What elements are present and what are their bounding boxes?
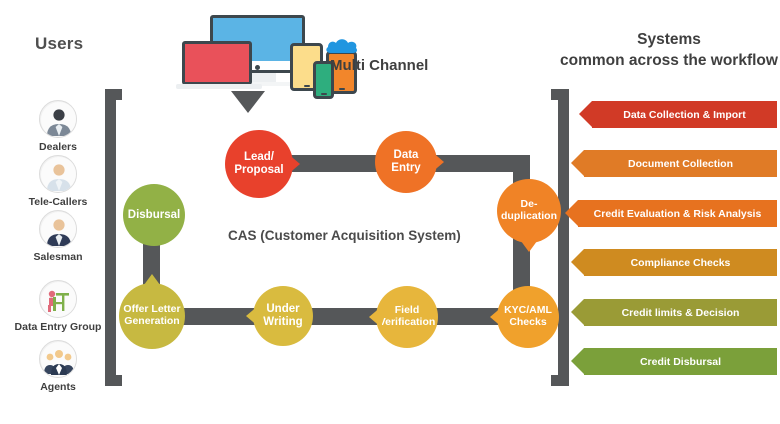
process-node-label: Offer LetterGeneration: [123, 304, 180, 328]
process-node-label-line2: Entry: [391, 162, 420, 175]
laptop-base-icon: [176, 84, 262, 89]
process-node-lead-proposal[interactable]: Lead/Proposal: [225, 130, 293, 198]
system-bar-compliance-checks[interactable]: Compliance Checks: [584, 249, 777, 276]
system-bar-label: Credit Disbursal: [640, 356, 721, 368]
flow-arrow-down-de-duplication: [518, 237, 540, 252]
system-bar-label: Document Collection: [628, 158, 733, 170]
process-node-under-writing[interactable]: UnderWriting: [253, 286, 313, 346]
process-node-label-line2: Verification: [379, 317, 436, 329]
process-node-offer-letter-generation[interactable]: Offer LetterGeneration: [119, 283, 185, 349]
system-bar-arrow-icon: [565, 200, 578, 226]
users-bracket-top: [105, 89, 122, 100]
user-label: Agents: [8, 381, 108, 393]
process-node-label: UnderWriting: [263, 303, 302, 329]
cloud-icon: [325, 37, 359, 54]
process-node-label-line2: Generation: [123, 316, 180, 328]
laptop-icon: [182, 41, 252, 85]
systems-heading: Systems common across the workflow: [560, 30, 778, 72]
user-item-salesman: Salesman: [8, 210, 108, 263]
system-bar-label: Credit Evaluation & Risk Analysis: [594, 208, 762, 220]
process-node-label-line2: Checks: [504, 317, 552, 329]
flow-arrow-up-offer-letter-generation: [141, 274, 163, 289]
user-label: Salesman: [8, 251, 108, 263]
system-bar-arrow-icon: [579, 101, 592, 127]
process-node-label-line2: Writing: [263, 316, 302, 329]
user-label: Tele-Callers: [8, 196, 108, 208]
user-item-agents: Agents: [8, 340, 108, 393]
process-node-kyc-aml-checks[interactable]: KYC/AMLChecks: [497, 286, 559, 348]
data-entry-avatar-icon: [39, 280, 77, 318]
process-node-label: De-duplication: [501, 199, 557, 223]
process-node-label-line1: Lead/: [234, 151, 283, 164]
telecaller-avatar-icon: [39, 155, 77, 193]
system-bar-credit-disbursal[interactable]: Credit Disbursal: [584, 348, 777, 375]
flow-arrow-right-data-entry: [431, 151, 444, 173]
process-node-label-line1: Data: [391, 149, 420, 162]
system-bar-label: Data Collection & Import: [623, 109, 746, 121]
process-node-label-line2: duplication: [501, 211, 557, 223]
user-item-tele-callers: Tele-Callers: [8, 155, 108, 208]
system-bar-document-collection[interactable]: Document Collection: [584, 150, 777, 177]
process-node-label: Lead/Proposal: [234, 151, 283, 177]
user-label: Dealers: [8, 141, 108, 153]
multi-channel-label: Multi Channel: [330, 57, 428, 74]
systems-bracket-vertical: [558, 89, 569, 386]
input-arrow-icon: [231, 91, 265, 113]
process-node-label: FieldVerification: [379, 305, 436, 329]
user-item-dealers: Dealers: [8, 100, 108, 153]
systems-heading-line2: common across the workflow: [560, 52, 778, 69]
salesman-avatar-icon: [39, 210, 77, 248]
system-bar-arrow-icon: [571, 150, 584, 176]
process-node-field-verification[interactable]: FieldVerification: [376, 286, 438, 348]
flow-arrow-left-kyc-aml-checks: [490, 306, 503, 328]
dealer-avatar-icon: [39, 100, 77, 138]
system-bar-label: Compliance Checks: [631, 257, 731, 269]
workflow-diagram: Users Systems common across the workflow: [0, 0, 780, 424]
user-item-data-entry-group: Data Entry Group: [8, 280, 108, 333]
process-node-label: Disbursal: [128, 209, 180, 222]
process-node-label-line1: Disbursal: [128, 209, 180, 222]
flow-arrow-left-field-verification: [369, 306, 382, 328]
system-bar-credit-limits-decision[interactable]: Credit limits & Decision: [584, 299, 777, 326]
system-bar-arrow-icon: [571, 348, 584, 374]
process-node-disbursal[interactable]: Disbursal: [123, 184, 185, 246]
multi-channel-devices: [182, 13, 342, 95]
systems-heading-line1: Systems: [637, 31, 701, 48]
process-node-label: KYC/AMLChecks: [504, 305, 552, 329]
flow-arrow-left-under-writing: [246, 305, 259, 327]
system-bar-arrow-icon: [571, 249, 584, 275]
pipe-bottom-horizontal: [140, 308, 520, 325]
systems-bracket-bottom: [551, 375, 569, 386]
process-node-label-line2: Proposal: [234, 164, 283, 177]
user-label: Data Entry Group: [8, 321, 108, 333]
systems-bracket-top: [551, 89, 569, 100]
system-bar-arrow-icon: [571, 299, 584, 325]
process-node-de-duplication[interactable]: De-duplication: [497, 179, 561, 243]
process-node-label: DataEntry: [391, 149, 420, 175]
system-bar-credit-evaluation-risk-analysis[interactable]: Credit Evaluation & Risk Analysis: [578, 200, 777, 227]
system-bar-data-collection-import[interactable]: Data Collection & Import: [592, 101, 777, 128]
agents-group-avatar-icon: [39, 340, 77, 378]
system-bar-label: Credit limits & Decision: [622, 307, 740, 319]
process-node-data-entry[interactable]: DataEntry: [375, 131, 437, 193]
flow-arrow-right-lead-proposal: [287, 153, 300, 175]
process-node-label-line1: Under: [263, 303, 302, 316]
cas-label: CAS (Customer Acquisition System): [228, 228, 461, 243]
users-heading: Users: [35, 34, 83, 54]
